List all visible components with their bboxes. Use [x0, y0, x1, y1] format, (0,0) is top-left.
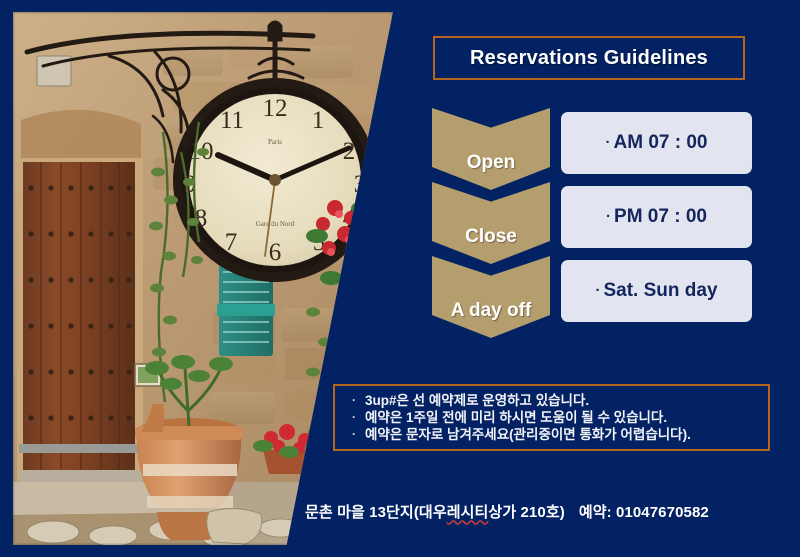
svg-text:12: 12	[263, 95, 288, 122]
chevron-day-off-icon: A day off	[432, 256, 550, 338]
guidelines-header-box: Reservations Guidelines	[433, 36, 745, 80]
schedule-label-day-off: A day off	[451, 300, 532, 338]
address-misspelled-word: 레시티	[447, 501, 489, 522]
page-title: Reservations Guidelines	[470, 47, 708, 70]
svg-text:1: 1	[312, 107, 325, 134]
svg-text:Paris: Paris	[268, 138, 282, 146]
address-suffix: 상가 210호)	[488, 501, 564, 522]
svg-text:6: 6	[269, 239, 282, 266]
value-bullet-icon: ·	[595, 282, 600, 299]
reservation-notes-box: · 3up#은 선 예약제로 운영하고 있습니다. · 예약은 1주일 전에 미…	[333, 384, 770, 451]
schedule-value-box-open: ·AM 07 : 00	[561, 112, 752, 174]
note-text: 3up#은 선 예약제로 운영하고 있습니다.	[365, 392, 589, 409]
schedule-value-open-text: AM 07 : 00	[614, 132, 708, 153]
svg-text:3: 3	[354, 171, 367, 198]
schedule-value-box-close: ·PM 07 : 00	[561, 186, 752, 248]
note-text: 예약은 1주일 전에 미리 하시면 도움이 될 수 있습니다.	[365, 409, 667, 426]
street-clock-photo: 12 1 2 3 4 5 6 7 8 9 10 11 Paris Gare du…	[13, 12, 393, 545]
value-bullet-icon: ·	[606, 208, 611, 225]
note-bullet-icon: ·	[343, 409, 365, 426]
note-list-item: · 예약은 1주일 전에 미리 하시면 도움이 될 수 있습니다.	[343, 409, 768, 426]
svg-text:11: 11	[220, 107, 244, 134]
note-text: 예약은 문자로 남겨주세요(관리중이면 통화가 어렵습니다).	[365, 426, 691, 443]
schedule-row-close: Close ·PM 07 : 00	[432, 182, 752, 256]
note-list-item: · 3up#은 선 예약제로 운영하고 있습니다.	[343, 392, 768, 409]
footer-address-line: 문촌 마을 13단지(대우 레시티 상가 210호)예약: 0104767058…	[305, 498, 785, 524]
schedule-value-day-off-text: Sat. Sun day	[603, 280, 717, 301]
address-prefix: 문촌 마을 13단지(대우	[305, 501, 447, 522]
schedule-value-close: ·PM 07 : 00	[606, 206, 707, 228]
poster-canvas: 12 1 2 3 4 5 6 7 8 9 10 11 Paris Gare du…	[0, 0, 800, 557]
note-list-item: · 예약은 문자로 남겨주세요(관리중이면 통화가 어렵습니다).	[343, 426, 768, 443]
photo-illustration: 12 1 2 3 4 5 6 7 8 9 10 11 Paris Gare du…	[13, 12, 393, 545]
schedule-row-day-off: A day off ·Sat. Sun day	[432, 256, 752, 330]
svg-text:7: 7	[225, 229, 238, 256]
value-bullet-icon: ·	[606, 134, 611, 151]
schedule-value-close-text: PM 07 : 00	[614, 206, 707, 227]
note-bullet-icon: ·	[343, 426, 365, 443]
schedule-value-box-day-off: ·Sat. Sun day	[561, 260, 752, 322]
schedule-value-open: ·AM 07 : 00	[606, 132, 708, 154]
schedule-value-day-off: ·Sat. Sun day	[595, 280, 717, 302]
reservation-phone: 예약: 01047670582	[579, 501, 709, 522]
schedule-row-open: Open ·AM 07 : 00	[432, 108, 752, 182]
note-bullet-icon: ·	[343, 392, 365, 409]
chevron-open-icon: Open	[432, 108, 550, 190]
svg-text:Gare du Nord: Gare du Nord	[256, 220, 295, 228]
chevron-close-icon: Close	[432, 182, 550, 264]
